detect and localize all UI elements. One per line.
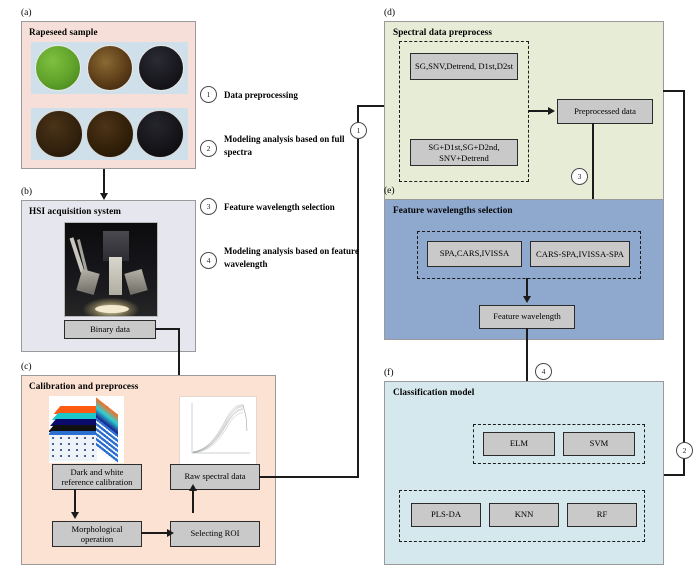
node-selecting-roi[interactable]: Selecting ROI [170,521,260,547]
arrowhead-e-group-to-out [523,296,531,303]
flow-marker-2: 2 [676,442,693,459]
petri-dish-green [35,45,81,91]
node-raw-spectral-data[interactable]: Raw spectral data [170,464,260,490]
connector-morph-to-roi [141,532,169,534]
flow-marker-3: 3 [571,168,588,185]
node-model-elm[interactable]: ELM [483,432,555,456]
node-model-plsda[interactable]: PLS-DA [411,503,481,527]
legend-text-2: Modeling analysis based on full spectra [224,133,359,159]
connector-calib-to-morph [74,489,76,513]
node-morphological-operation[interactable]: Morphological operation [52,521,142,547]
rapeseed-dish-row-bottom [31,108,188,160]
rapeseed-dish-row-top [31,42,188,94]
connector-preprocessed-right [663,90,685,92]
arrowhead-roi-to-raw [189,484,197,491]
arrowhead-calib-to-morph [71,512,79,519]
node-preprocess-single[interactable]: SG,SNV,Detrend, D1st,D2st [410,53,518,80]
panel-tag-c: (c) [21,362,32,372]
node-preprocess-combo[interactable]: SG+D1st,SG+D2nd, SNV+Detrend [410,139,518,166]
figure-canvas: (a) Rapeseed sample (b) HSI acquisition … [0,0,700,573]
legend-text-4: Modeling analysis based on feature wavel… [224,245,359,271]
legend-circle-4: 4 [200,252,217,269]
petri-dish-black [138,45,184,91]
panel-rapeseed-sample: Rapeseed sample [21,21,196,169]
flow-marker-4: 4 [535,363,552,380]
petri-dish-dark-brown-1 [35,110,83,158]
panel-title-b: HSI acquisition system [29,206,121,216]
arrowhead-a-to-b [100,193,108,200]
panel-calibration-preprocess: Calibration and preprocess [21,375,276,565]
connector-raw-right [259,476,359,478]
panel-title-f: Classification model [393,387,474,397]
node-dark-white-calibration[interactable]: Dark and white reference calibration [52,464,142,490]
panel-spectral-preprocess: Spectral data preprocess SG,SNV,Detrend,… [384,21,664,207]
panel-classification-model: Classification model ELM SVM PLS-DA KNN … [384,381,664,565]
node-feature-wavelength[interactable]: Feature wavelength [479,305,575,329]
petri-dish-dark-brown-2 [86,110,134,158]
arrowhead-morph-to-roi [167,529,174,537]
connector-raw-up [357,105,359,477]
panel-title-c: Calibration and preprocess [29,381,138,391]
node-model-knn[interactable]: KNN [489,503,559,527]
connector-a-to-b [103,169,105,195]
panel-tag-a: (a) [21,8,32,18]
petri-dish-brown-mixed [87,45,133,91]
connector-binary-right [155,328,180,330]
connector-roi-to-raw [192,489,194,513]
hyperspectral-data-cube-icon [49,396,124,463]
legend-circle-3: 3 [200,198,217,215]
raw-spectra-plot-icon [179,396,257,465]
arrowhead-d-group-to-out [548,107,555,115]
connector-d-group-to-out [528,110,550,112]
panel-title-d: Spectral data preprocess [393,27,492,37]
legend-circle-2: 2 [200,140,217,157]
panel-tag-e: (e) [384,186,395,196]
node-model-svm[interactable]: SVM [563,432,635,456]
legend-text-3: Feature wavelength selection [224,201,374,214]
node-binary-data[interactable]: Binary data [64,320,156,339]
connector-e-group-to-out [526,278,528,297]
node-feature-single[interactable]: SPA,CARS,IVISSA [427,241,522,267]
connector-right-rail-down [683,90,685,475]
panel-feature-selection: Feature wavelengths selection SPA,CARS,I… [384,199,664,340]
legend-text-1: Data preprocessing [224,89,374,102]
panel-tag-b: (b) [21,187,32,197]
panel-tag-f: (f) [384,368,394,378]
node-model-rf[interactable]: RF [567,503,637,527]
legend-circle-1: 1 [200,86,217,103]
panel-title-a: Rapeseed sample [29,27,98,37]
panel-title-e: Feature wavelengths selection [393,205,513,215]
hsi-instrument-photo [64,222,158,317]
node-preprocessed-data[interactable]: Preprocessed data [557,99,653,124]
panel-tag-d: (d) [384,8,395,18]
node-feature-combo[interactable]: CARS-SPA,IVISSA-SPA [530,241,630,267]
petri-dish-black-2 [136,110,184,158]
